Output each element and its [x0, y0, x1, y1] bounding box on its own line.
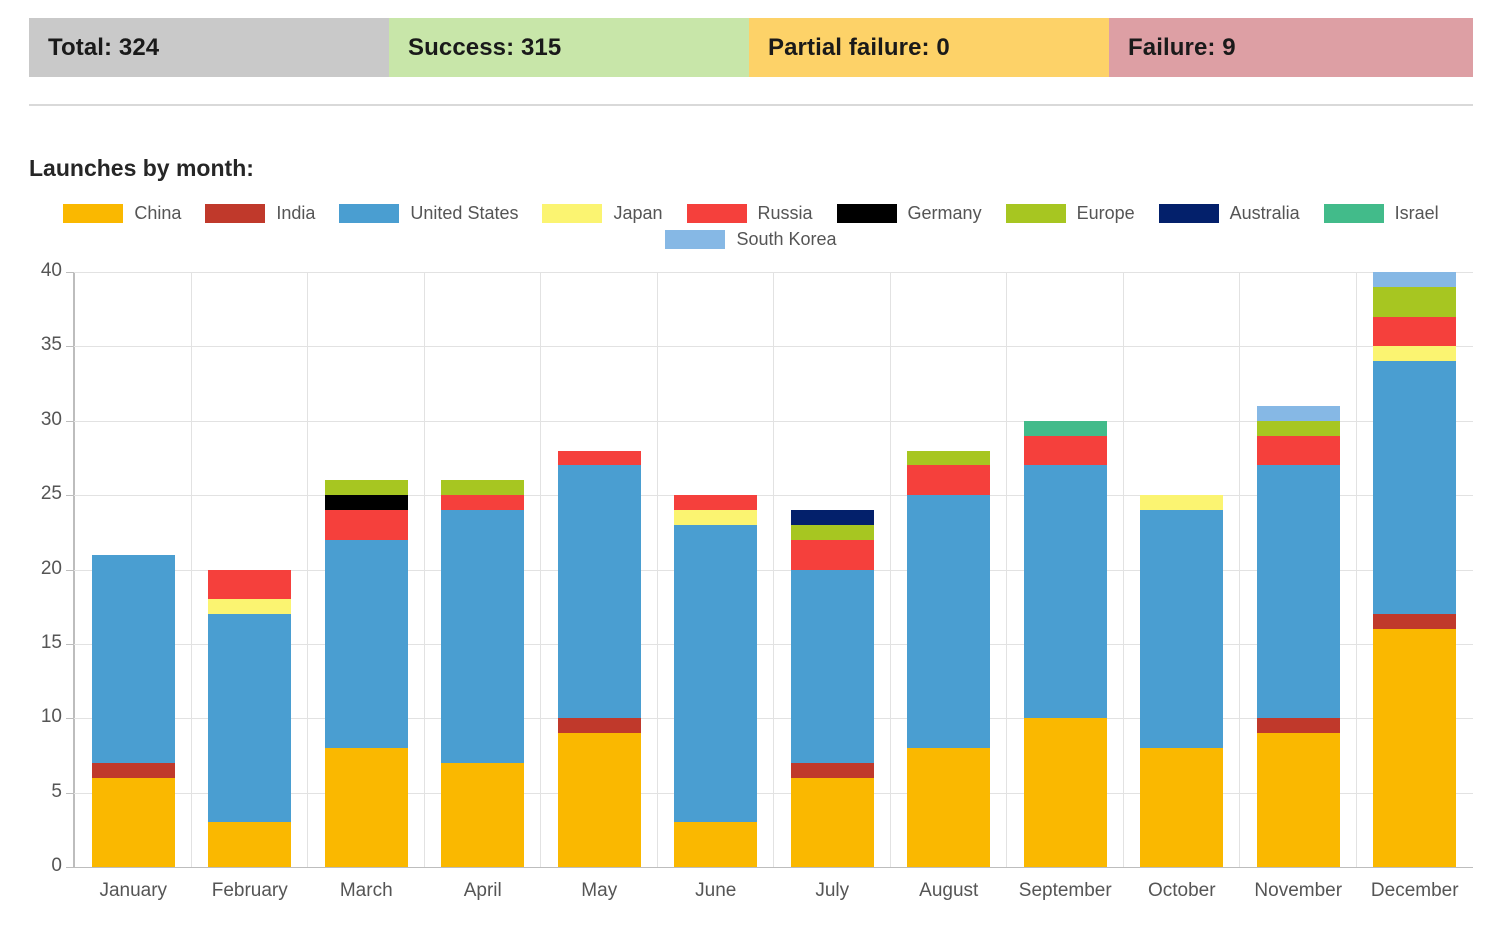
x-axis-label-june: June [658, 880, 775, 902]
bar-segment-china[interactable] [1024, 718, 1107, 867]
bar-segment-europe[interactable] [791, 525, 874, 540]
x-axis-label-september: September [1007, 880, 1124, 902]
bar-segment-south-korea[interactable] [1373, 272, 1456, 287]
page-root: Total: 324Success: 315Partial failure: 0… [0, 0, 1500, 935]
gridline-0 [73, 867, 1473, 868]
bar-slot-march [308, 272, 425, 867]
bar-segment-russia[interactable] [1373, 317, 1456, 347]
bar-segment-china[interactable] [441, 763, 524, 867]
x-axis-label-may: May [541, 880, 658, 902]
bar-stack[interactable] [92, 555, 175, 867]
bar-stack[interactable] [325, 480, 408, 867]
bar-slot-november [1240, 272, 1357, 867]
bar-segment-japan[interactable] [1373, 346, 1456, 361]
bar-segment-india[interactable] [791, 763, 874, 778]
bar-segment-india[interactable] [558, 718, 641, 733]
bar-slot-december [1357, 272, 1474, 867]
x-axis-label-august: August [891, 880, 1008, 902]
bar-stack[interactable] [1024, 421, 1107, 867]
y-tick-label-40: 40 [18, 260, 62, 282]
y-tick-label-0: 0 [18, 855, 62, 877]
bar-segment-russia[interactable] [907, 465, 990, 495]
y-tick-mark-15 [66, 644, 74, 645]
bar-slot-june [658, 272, 775, 867]
y-tick-mark-10 [66, 718, 74, 719]
y-tick-mark-25 [66, 495, 74, 496]
bar-segment-europe[interactable] [907, 451, 990, 466]
y-tick-label-35: 35 [18, 334, 62, 356]
bar-segment-russia[interactable] [791, 540, 874, 570]
bar-segment-united-states[interactable] [558, 465, 641, 718]
bar-segment-europe[interactable] [1257, 421, 1340, 436]
bar-segment-united-states[interactable] [1140, 510, 1223, 748]
bar-slot-july [774, 272, 891, 867]
bar-segment-united-states[interactable] [1257, 465, 1340, 718]
bar-segment-japan[interactable] [208, 599, 291, 614]
x-axis-label-december: December [1357, 880, 1474, 902]
bar-slot-january [75, 272, 192, 867]
y-tick-label-10: 10 [18, 706, 62, 728]
bar-segment-china[interactable] [208, 822, 291, 867]
bar-slot-september [1007, 272, 1124, 867]
bar-segment-russia[interactable] [1257, 436, 1340, 466]
bar-stack[interactable] [791, 510, 874, 867]
bar-segment-india[interactable] [1257, 718, 1340, 733]
bar-segment-russia[interactable] [325, 510, 408, 540]
y-tick-label-20: 20 [18, 558, 62, 580]
bar-slot-april [425, 272, 542, 867]
bar-segment-india[interactable] [92, 763, 175, 778]
bar-stack[interactable] [441, 480, 524, 867]
bar-slot-october [1124, 272, 1241, 867]
x-axis-labels: JanuaryFebruaryMarchAprilMayJuneJulyAugu… [75, 880, 1473, 902]
bar-segment-russia[interactable] [558, 451, 641, 466]
bar-segment-south-korea[interactable] [1257, 406, 1340, 421]
bar-segment-china[interactable] [791, 778, 874, 867]
bar-segment-europe[interactable] [325, 480, 408, 495]
y-tick-mark-40 [66, 272, 74, 273]
bar-segment-united-states[interactable] [674, 525, 757, 823]
bar-stack[interactable] [208, 570, 291, 868]
bars-container [75, 272, 1473, 867]
bar-segment-russia[interactable] [208, 570, 291, 600]
bar-segment-europe[interactable] [441, 480, 524, 495]
bar-segment-china[interactable] [674, 822, 757, 867]
bar-segment-russia[interactable] [441, 495, 524, 510]
bar-segment-australia[interactable] [791, 510, 874, 525]
x-axis-label-january: January [75, 880, 192, 902]
y-tick-label-25: 25 [18, 483, 62, 505]
bar-segment-germany[interactable] [325, 495, 408, 510]
bar-segment-india[interactable] [1373, 614, 1456, 629]
y-tick-mark-20 [66, 570, 74, 571]
bar-stack[interactable] [1373, 272, 1456, 867]
x-axis-label-february: February [192, 880, 309, 902]
bar-segment-europe[interactable] [1373, 287, 1456, 317]
y-tick-label-5: 5 [18, 781, 62, 803]
x-axis-label-april: April [425, 880, 542, 902]
bar-segment-china[interactable] [325, 748, 408, 867]
bar-stack[interactable] [1140, 495, 1223, 867]
bar-segment-china[interactable] [1373, 629, 1456, 867]
chart-plot-area: 0510152025303540 JanuaryFebruaryMarchApr… [0, 0, 1500, 935]
bar-segment-united-states[interactable] [1024, 465, 1107, 718]
bar-segment-united-states[interactable] [325, 540, 408, 748]
bar-stack[interactable] [558, 451, 641, 868]
bar-slot-may [541, 272, 658, 867]
bar-segment-china[interactable] [1257, 733, 1340, 867]
bar-segment-china[interactable] [907, 748, 990, 867]
bar-segment-united-states[interactable] [1373, 361, 1456, 614]
bar-slot-august [891, 272, 1008, 867]
bar-stack[interactable] [674, 495, 757, 867]
y-tick-mark-30 [66, 421, 74, 422]
bar-segment-united-states[interactable] [208, 614, 291, 822]
y-tick-mark-0 [66, 867, 74, 868]
bar-segment-israel[interactable] [1024, 421, 1107, 436]
bar-segment-united-states[interactable] [92, 555, 175, 763]
x-axis-label-november: November [1240, 880, 1357, 902]
x-axis-label-july: July [774, 880, 891, 902]
bar-segment-japan[interactable] [1140, 495, 1223, 510]
x-axis-label-march: March [308, 880, 425, 902]
bar-slot-february [192, 272, 309, 867]
y-tick-mark-5 [66, 793, 74, 794]
bar-segment-china[interactable] [92, 778, 175, 867]
bar-segment-japan[interactable] [674, 510, 757, 525]
y-tick-label-15: 15 [18, 632, 62, 654]
bar-segment-russia[interactable] [1024, 436, 1107, 466]
bar-segment-russia[interactable] [674, 495, 757, 510]
bar-segment-china[interactable] [1140, 748, 1223, 867]
y-tick-mark-35 [66, 346, 74, 347]
y-tick-label-30: 30 [18, 409, 62, 431]
bar-segment-united-states[interactable] [791, 570, 874, 763]
bar-stack[interactable] [907, 451, 990, 868]
x-axis-label-october: October [1124, 880, 1241, 902]
bar-segment-united-states[interactable] [907, 495, 990, 748]
bar-stack[interactable] [1257, 406, 1340, 867]
bar-segment-china[interactable] [558, 733, 641, 867]
bar-segment-united-states[interactable] [441, 510, 524, 763]
